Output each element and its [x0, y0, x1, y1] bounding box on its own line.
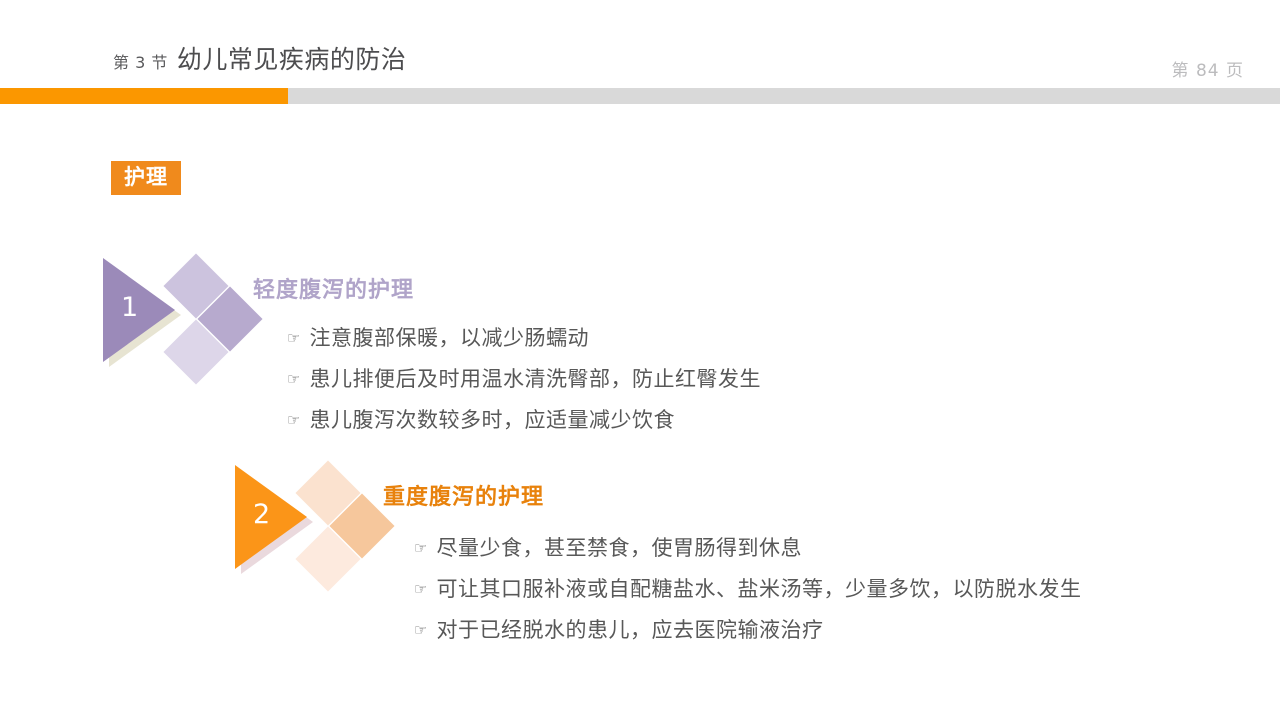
page-title: 第 3 节 幼儿常见疾病的防治 [113, 40, 406, 76]
title-text: 幼儿常见疾病的防治 [177, 40, 407, 76]
list-item-text: 患儿腹泻次数较多时，应适量减少饮食 [309, 410, 675, 431]
list-item: ☞ 患儿排便后及时用温水清洗臀部，防止红臀发生 [287, 369, 761, 390]
right-arrow-triangle-icon [235, 465, 307, 569]
accent-rule-orange-segment [0, 88, 288, 104]
section-1-heading: 轻度腹泻的护理 [253, 280, 414, 302]
topic-tag-badge: 护理 [111, 161, 181, 195]
section-2-number: 2 [253, 501, 270, 528]
header-accent-rule [0, 88, 1280, 104]
pointing-hand-icon: ☞ [287, 331, 300, 346]
pointing-hand-icon: ☞ [287, 372, 300, 387]
pointing-hand-icon: ☞ [414, 582, 427, 597]
list-item: ☞ 注意腹部保暖，以减少肠蠕动 [287, 328, 761, 349]
list-item-text: 注意腹部保暖，以减少肠蠕动 [309, 328, 589, 349]
section-number-label: 第 3 节 [113, 49, 168, 73]
pointing-hand-icon: ☞ [414, 623, 427, 638]
slide-header: 第 3 节 幼儿常见疾病的防治 第 84 页 [0, 0, 1280, 88]
right-arrow-triangle-icon [103, 258, 175, 362]
pointing-hand-icon: ☞ [414, 541, 427, 556]
list-item: ☞ 患儿腹泻次数较多时，应适量减少饮食 [287, 410, 761, 431]
section-2-bullet-list: ☞ 尽量少食，甚至禁食，使胃肠得到休息 ☞ 可让其口服补液或自配糖盐水、盐米汤等… [414, 538, 1081, 661]
page-number-label: 第 84 页 [1172, 56, 1244, 81]
slide-root: { "header": { "section_no": "第 3 节", "ti… [0, 0, 1280, 720]
list-item-text: 可让其口服补液或自配糖盐水、盐米汤等，少量多饮，以防脱水发生 [436, 579, 1081, 600]
list-item-text: 对于已经脱水的患儿，应去医院输液治疗 [436, 620, 823, 641]
section-1-number: 1 [121, 294, 138, 321]
accent-rule-grey-segment [288, 88, 1280, 104]
list-item-text: 患儿排便后及时用温水清洗臀部，防止红臀发生 [309, 369, 761, 390]
pointing-hand-icon: ☞ [287, 413, 300, 428]
list-item-text: 尽量少食，甚至禁食，使胃肠得到休息 [436, 538, 802, 559]
list-item: ☞ 对于已经脱水的患儿，应去医院输液治疗 [414, 620, 1081, 641]
list-item: ☞ 可让其口服补液或自配糖盐水、盐米汤等，少量多饮，以防脱水发生 [414, 579, 1081, 600]
section-1-bullet-list: ☞ 注意腹部保暖，以减少肠蠕动 ☞ 患儿排便后及时用温水清洗臀部，防止红臀发生 … [287, 328, 761, 451]
section-1-marker-graphic: 1 [103, 258, 313, 378]
section-2-heading: 重度腹泻的护理 [383, 487, 544, 509]
list-item: ☞ 尽量少食，甚至禁食，使胃肠得到休息 [414, 538, 1081, 559]
